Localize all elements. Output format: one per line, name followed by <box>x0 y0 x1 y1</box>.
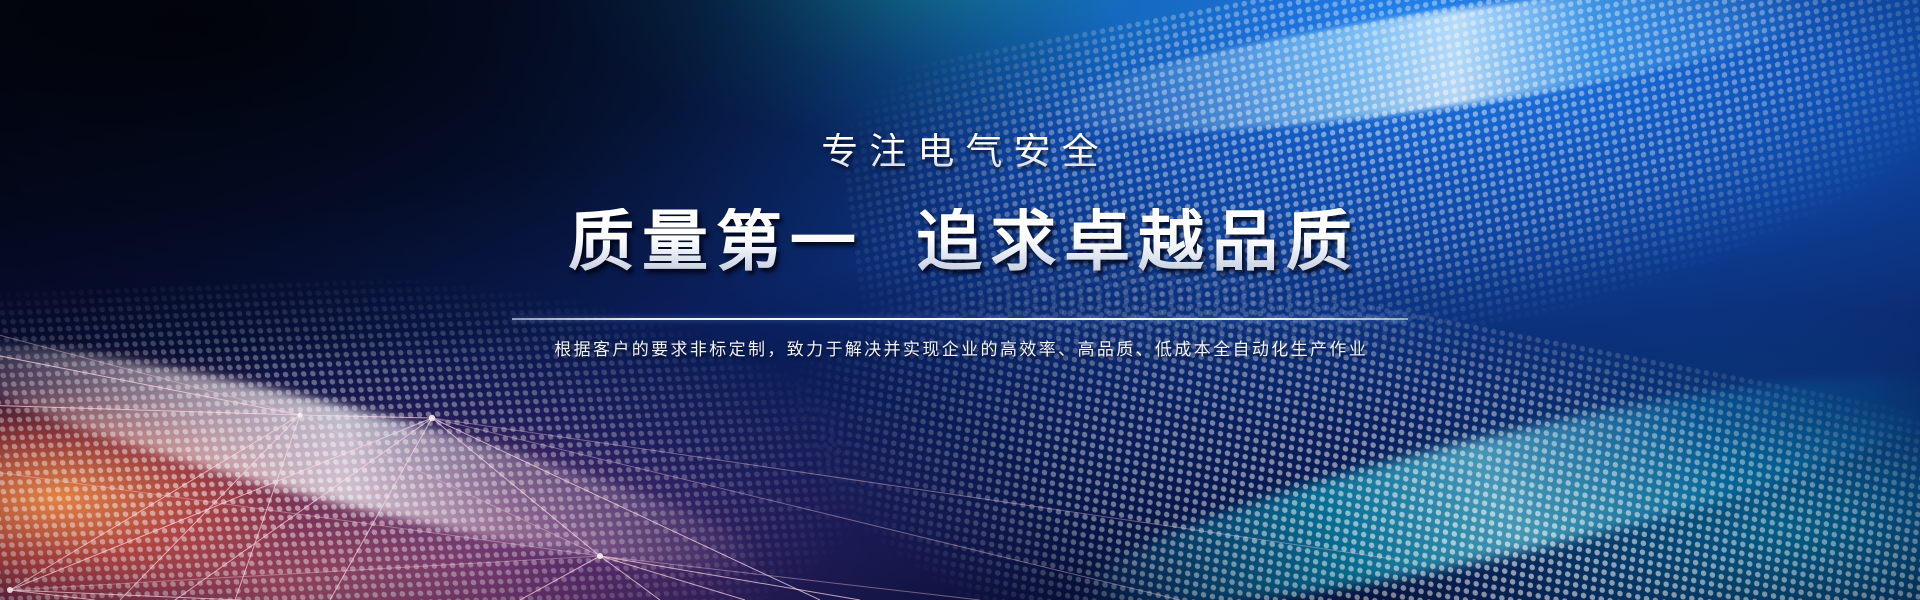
banner-eyebrow: 专注电气安全 <box>810 133 1110 170</box>
banner-content: 专注电气安全 质量第一 追求卓越品质 根据客户的要求非标定制，致力于解决并实现企… <box>0 0 1920 600</box>
hero-banner: 专注电气安全 质量第一 追求卓越品质 根据客户的要求非标定制，致力于解决并实现企… <box>0 0 1920 600</box>
banner-headline: 质量第一 追求卓越品质 <box>560 208 1360 274</box>
banner-divider <box>512 318 1408 320</box>
banner-subtitle: 根据客户的要求非标定制，致力于解决并实现企业的高效率、高品质、低成本全自动化生产… <box>552 341 1368 358</box>
